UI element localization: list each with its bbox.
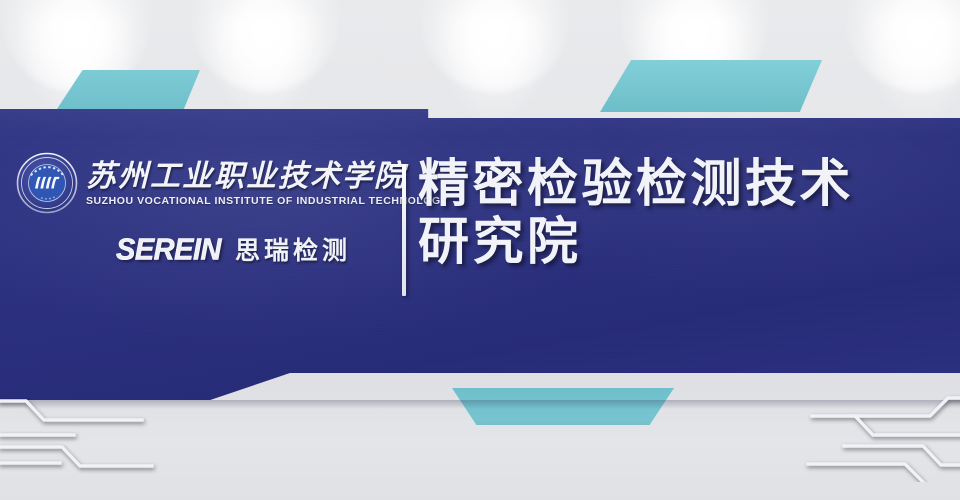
brand-block: 苏州工业职业技术学院 SUZHOU VOCATIONAL INSTITUTE O… (16, 152, 396, 267)
school-identity-row: 苏州工业职业技术学院 SUZHOU VOCATIONAL INSTITUTE O… (16, 152, 396, 214)
institute-title: 精密检验检测技术 研究院 (418, 156, 948, 271)
school-name-en: SUZHOU VOCATIONAL INSTITUTE OF INDUSTRIA… (86, 195, 448, 207)
university-crest-icon (16, 152, 78, 214)
school-name-cn: 苏州工业职业技术学院 (86, 161, 448, 193)
serein-wordmark: SEREIN (116, 233, 221, 267)
signage-scene: 苏州工业职业技术学院 SUZHOU VOCATIONAL INSTITUTE O… (0, 0, 960, 500)
school-names: 苏州工业职业技术学院 SUZHOU VOCATIONAL INSTITUTE O… (86, 159, 448, 208)
institute-title-line-1: 精密检验检测技术 (418, 156, 948, 214)
institute-title-line-2: 研究院 (418, 214, 948, 272)
vertical-divider-bar (402, 164, 406, 296)
sign-content: 苏州工业职业技术学院 SUZHOU VOCATIONAL INSTITUTE O… (0, 100, 960, 400)
partner-brand-row: SEREIN 思瑞检测 (116, 231, 396, 267)
serein-name-cn: 思瑞检测 (235, 231, 351, 267)
panel-drop-shadow (0, 400, 960, 409)
